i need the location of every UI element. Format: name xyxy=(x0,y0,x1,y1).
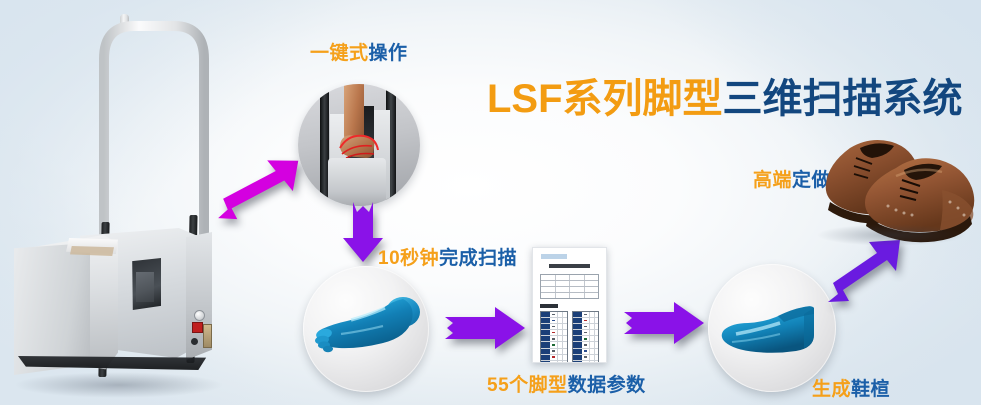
report-title-mark xyxy=(549,264,590,268)
step-3-measurement-report xyxy=(532,247,607,363)
step-2-label-blue: 完成扫描 xyxy=(439,248,517,269)
step-2-label-orange: 10秒钟 xyxy=(378,248,439,269)
report-summary-table xyxy=(540,274,599,299)
port-icon xyxy=(203,324,212,348)
step-4-label-blue: 鞋楦 xyxy=(851,379,890,400)
table-row xyxy=(541,293,598,298)
report-parameter-columns xyxy=(540,311,599,363)
parameter-column-left xyxy=(540,311,568,363)
parameter-column-right xyxy=(572,311,600,363)
step-3-label-blue: 数据参数 xyxy=(568,375,646,396)
arrow-1-up-right-icon xyxy=(205,150,310,240)
step-1-label-blue: 操作 xyxy=(369,43,408,64)
step-1-label-orange: 一键式 xyxy=(310,43,369,64)
arrow-3-right-icon xyxy=(443,303,527,353)
step-4-shoe-last-model xyxy=(708,264,836,392)
connector-icon xyxy=(191,338,198,345)
step-1-photo-foot-in-scanner xyxy=(298,84,420,206)
list-item xyxy=(573,361,599,363)
step-3-label: 55个脚型数据参数 xyxy=(487,370,646,397)
step-2-label: 10秒钟完成扫描 xyxy=(378,243,517,270)
report-section-mark xyxy=(540,304,558,308)
emergency-stop-icon xyxy=(192,322,203,333)
page-title: LSF系列脚型三维扫描系统 xyxy=(487,66,963,124)
step-4-label-orange: 生成 xyxy=(812,379,851,400)
step-1-label: 一键式操作 xyxy=(310,38,408,65)
page-title-blue: 三维扫描系统 xyxy=(723,77,963,121)
step-5-label-orange: 高端 xyxy=(753,170,792,191)
step-5-leather-shoes-photo xyxy=(800,128,981,260)
list-item xyxy=(541,361,567,363)
step-2-scanned-foot-model xyxy=(303,266,429,392)
banner-stage: 一键式操作 10秒钟完成扫描 xyxy=(0,0,981,405)
shoe-last-3d-model-icon xyxy=(718,304,828,360)
page-title-orange: LSF系列脚型 xyxy=(487,77,723,121)
step-3-label-orange: 55个脚型 xyxy=(487,375,568,396)
report-header-mark xyxy=(541,254,567,259)
arrow-4-right-icon xyxy=(622,298,706,348)
power-switch-icon xyxy=(194,310,205,321)
step-4-label: 生成鞋楦 xyxy=(812,374,890,401)
foot-3d-model-icon xyxy=(311,296,423,366)
